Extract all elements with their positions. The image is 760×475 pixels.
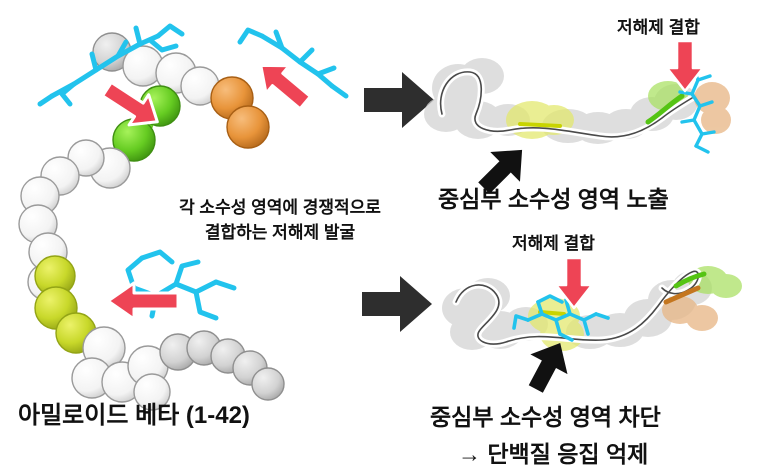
red-diagonal-arrow-icon [96,80,170,132]
bottom-panel-caption-line2: → 단백질 응집 억제 [458,435,648,469]
bottom-panel-caption-line1: 중심부 소수성 영역 차단 [430,398,661,432]
inhibitor-label-top: 저해제 결합 [617,13,700,38]
structure-exposed-hydrophobic-core [420,48,760,178]
center-note-line2: 결합하는 저해제 발굴 [140,218,420,243]
structure-blocked-hydrophobic-core [430,258,760,388]
red-down-arrow-icon-bottom [553,255,595,311]
top-panel-caption: 중심부 소수성 영역 노출 [438,180,669,214]
inhibitor-label-bottom: 저해제 결합 [512,229,595,254]
red-diagonal-arrow-icon-2 [248,58,318,110]
red-down-arrow-icon-top [664,38,706,94]
center-note-line1: 각 소수성 영역에 경쟁적으로 [140,193,420,218]
red-left-arrow-icon [100,278,184,324]
page-title-amyloid-beta: 아밀로이드 베타 (1-42) [18,395,250,430]
figure-canvas: 각 소수성 영역에 경쟁적으로 결합하는 저해제 발굴 아밀로이드 베타 (1-… [0,0,760,475]
black-pointer-arrow-icon-bottom [518,338,578,394]
block-arrow-right-icon-bottom [360,272,434,336]
